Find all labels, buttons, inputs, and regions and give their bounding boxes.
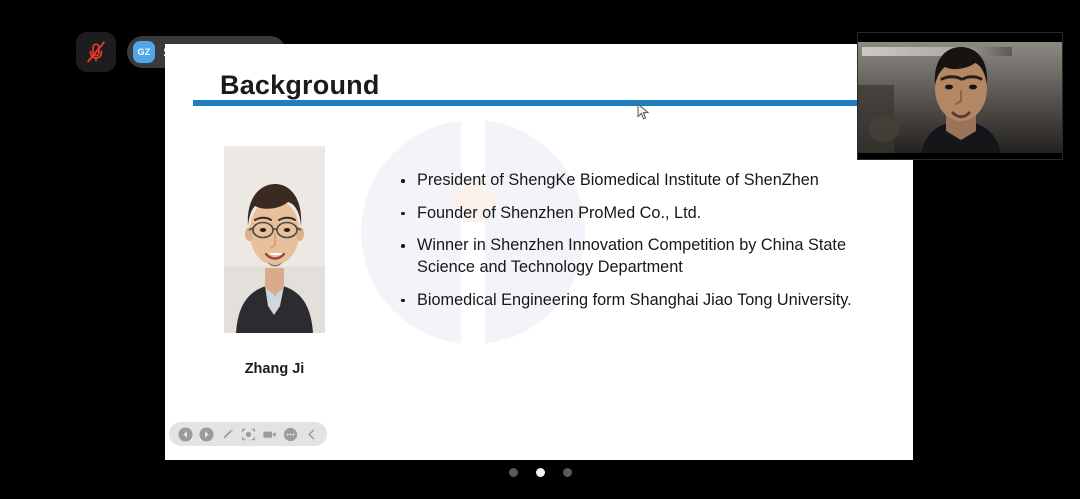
spotlight-icon [241,427,256,442]
collapse-chevron-icon [304,427,319,442]
presenter-name-caption: Zhang Ji [224,361,325,377]
page-dot-1[interactable] [509,468,518,477]
microphone-mute-button[interactable] [76,32,116,72]
participant-video-thumbnail[interactable] [857,32,1063,160]
microphone-muted-icon [85,40,107,64]
annotation-toolbar [169,422,327,446]
presenter-photo [224,146,325,333]
next-slide-button[interactable] [197,425,215,443]
list-item: Winner in Shenzhen Innovation Competitio… [397,235,887,278]
page-title: Background [220,70,380,101]
list-item: President of ShengKe Biomedical Institut… [397,170,887,192]
next-slide-icon [199,427,214,442]
previous-slide-icon [178,427,193,442]
slide-bullet-list: President of ShengKe Biomedical Institut… [397,170,887,311]
video-button[interactable] [260,425,278,443]
more-options-icon [283,427,298,442]
shared-slide: Background [165,44,913,460]
page-dot-3[interactable] [563,468,572,477]
zoom-meeting-window: GZ Screen share(2) ▾ Background [0,0,1080,499]
pencil-annotate-icon [220,427,235,442]
collapse-toolbar-button[interactable] [302,425,320,443]
more-options-button[interactable] [281,425,299,443]
avatar: GZ [133,41,155,63]
pagination-dots [0,468,1080,477]
list-item: Founder of Shenzhen ProMed Co., Ltd. [397,203,887,225]
video-camera-icon [262,427,277,442]
title-underline-rule [193,100,885,106]
list-item: Biomedical Engineering form Shanghai Jia… [397,290,887,312]
spotlight-button[interactable] [239,425,257,443]
annotate-button[interactable] [218,425,236,443]
page-dot-2[interactable] [536,468,545,477]
previous-slide-button[interactable] [176,425,194,443]
